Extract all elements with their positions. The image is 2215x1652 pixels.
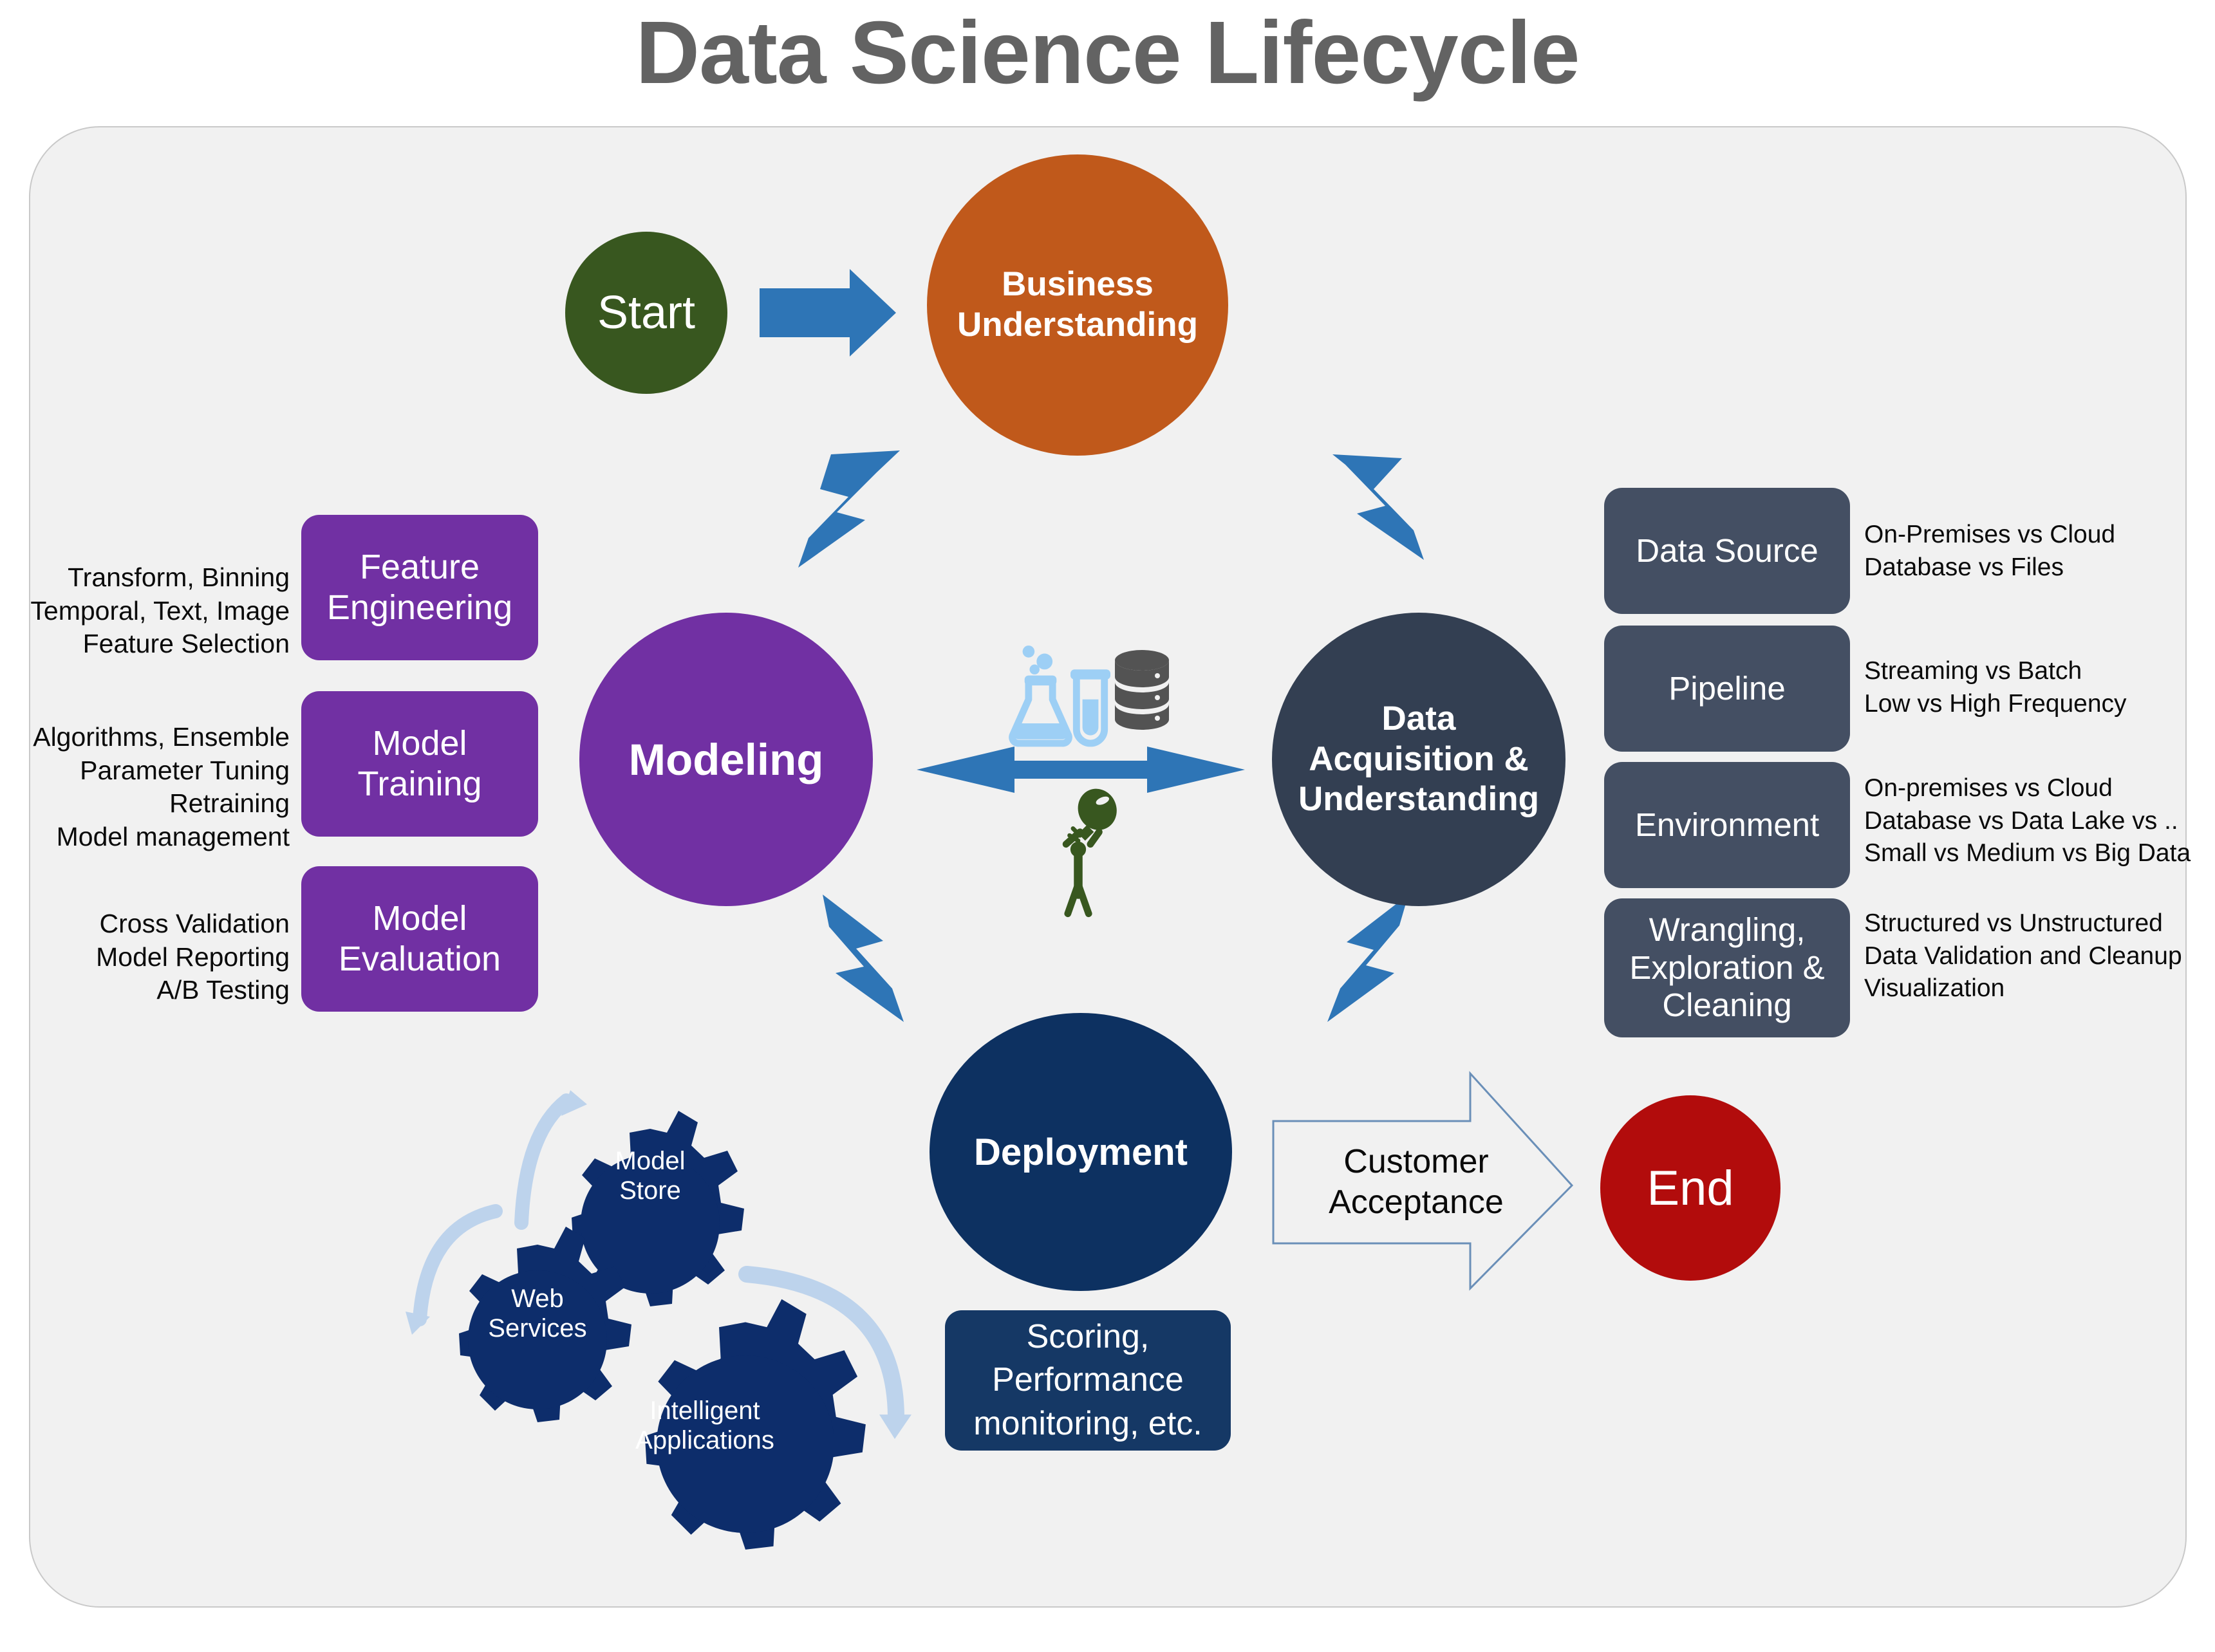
customer-acceptance-label: Customer Acceptance [1300, 1121, 1532, 1243]
environment-details: On-premises vs Cloud Database vs Data La… [1864, 772, 2215, 870]
feature-engineering-label: Feature Engineering [327, 547, 512, 627]
start-label: Start [597, 286, 695, 339]
wrangling-label: Wrangling, Exploration & Cleaning [1629, 911, 1824, 1025]
gear-label-web-services: Web Services [463, 1285, 612, 1343]
modeling-label: Modeling [629, 734, 824, 785]
gear-web-services-text: Web Services [488, 1285, 586, 1342]
business-understanding-label: Business Understanding [957, 265, 1198, 345]
deployment-node[interactable]: Deployment [930, 1013, 1232, 1291]
modeling-node[interactable]: Modeling [579, 613, 873, 906]
page-title: Data Science Lifecycle [0, 1, 2215, 104]
data-source-details: On-Premises vs Cloud Database vs Files [1864, 519, 2215, 584]
end-node[interactable]: End [1600, 1095, 1780, 1281]
customer-acceptance-text: Customer Acceptance [1329, 1142, 1504, 1223]
feature-engineering-box[interactable]: Feature Engineering [301, 515, 538, 660]
pipeline-label: Pipeline [1668, 670, 1785, 708]
gear-intelligent-applications-text: Intelligent Applications [635, 1397, 774, 1454]
pipeline-box[interactable]: Pipeline [1604, 626, 1850, 752]
scoring-performance-label: Scoring, Performance monitoring, etc. [973, 1315, 1202, 1446]
wrangling-box[interactable]: Wrangling, Exploration & Cleaning [1604, 898, 1850, 1037]
pipeline-details: Streaming vs Batch Low vs High Frequency [1864, 655, 2215, 720]
wrangling-details: Structured vs Unstructured Data Validati… [1864, 907, 2215, 1005]
model-training-box[interactable]: Model Training [301, 691, 538, 837]
start-node[interactable]: Start [565, 232, 727, 394]
data-source-label: Data Source [1636, 532, 1818, 570]
gear-model-store-text: Model Store [615, 1147, 686, 1205]
model-evaluation-box[interactable]: Model Evaluation [301, 866, 538, 1012]
data-acquisition-label: Data Acquisition & Understanding [1298, 699, 1539, 820]
data-acquisition-node[interactable]: Data Acquisition & Understanding [1272, 613, 1565, 906]
scoring-performance-box[interactable]: Scoring, Performance monitoring, etc. [945, 1310, 1231, 1451]
data-source-box[interactable]: Data Source [1604, 488, 1850, 614]
gear-label-intelligent-applications: Intelligent Applications [612, 1397, 798, 1455]
model-training-details: Algorithms, Ensemble Parameter Tuning Re… [13, 721, 290, 854]
deployment-label: Deployment [974, 1131, 1188, 1174]
environment-label: Environment [1635, 806, 1819, 844]
business-understanding-node[interactable]: Business Understanding [927, 154, 1228, 456]
model-evaluation-label: Model Evaluation [339, 898, 501, 979]
gear-label-model-store: Model Store [579, 1147, 721, 1205]
end-label: End [1647, 1160, 1734, 1216]
environment-box[interactable]: Environment [1604, 762, 1850, 888]
model-training-label: Model Training [357, 723, 481, 804]
feature-engineering-details: Transform, Binning Temporal, Text, Image… [13, 561, 290, 661]
model-evaluation-details: Cross Validation Model Reporting A/B Tes… [13, 907, 290, 1007]
